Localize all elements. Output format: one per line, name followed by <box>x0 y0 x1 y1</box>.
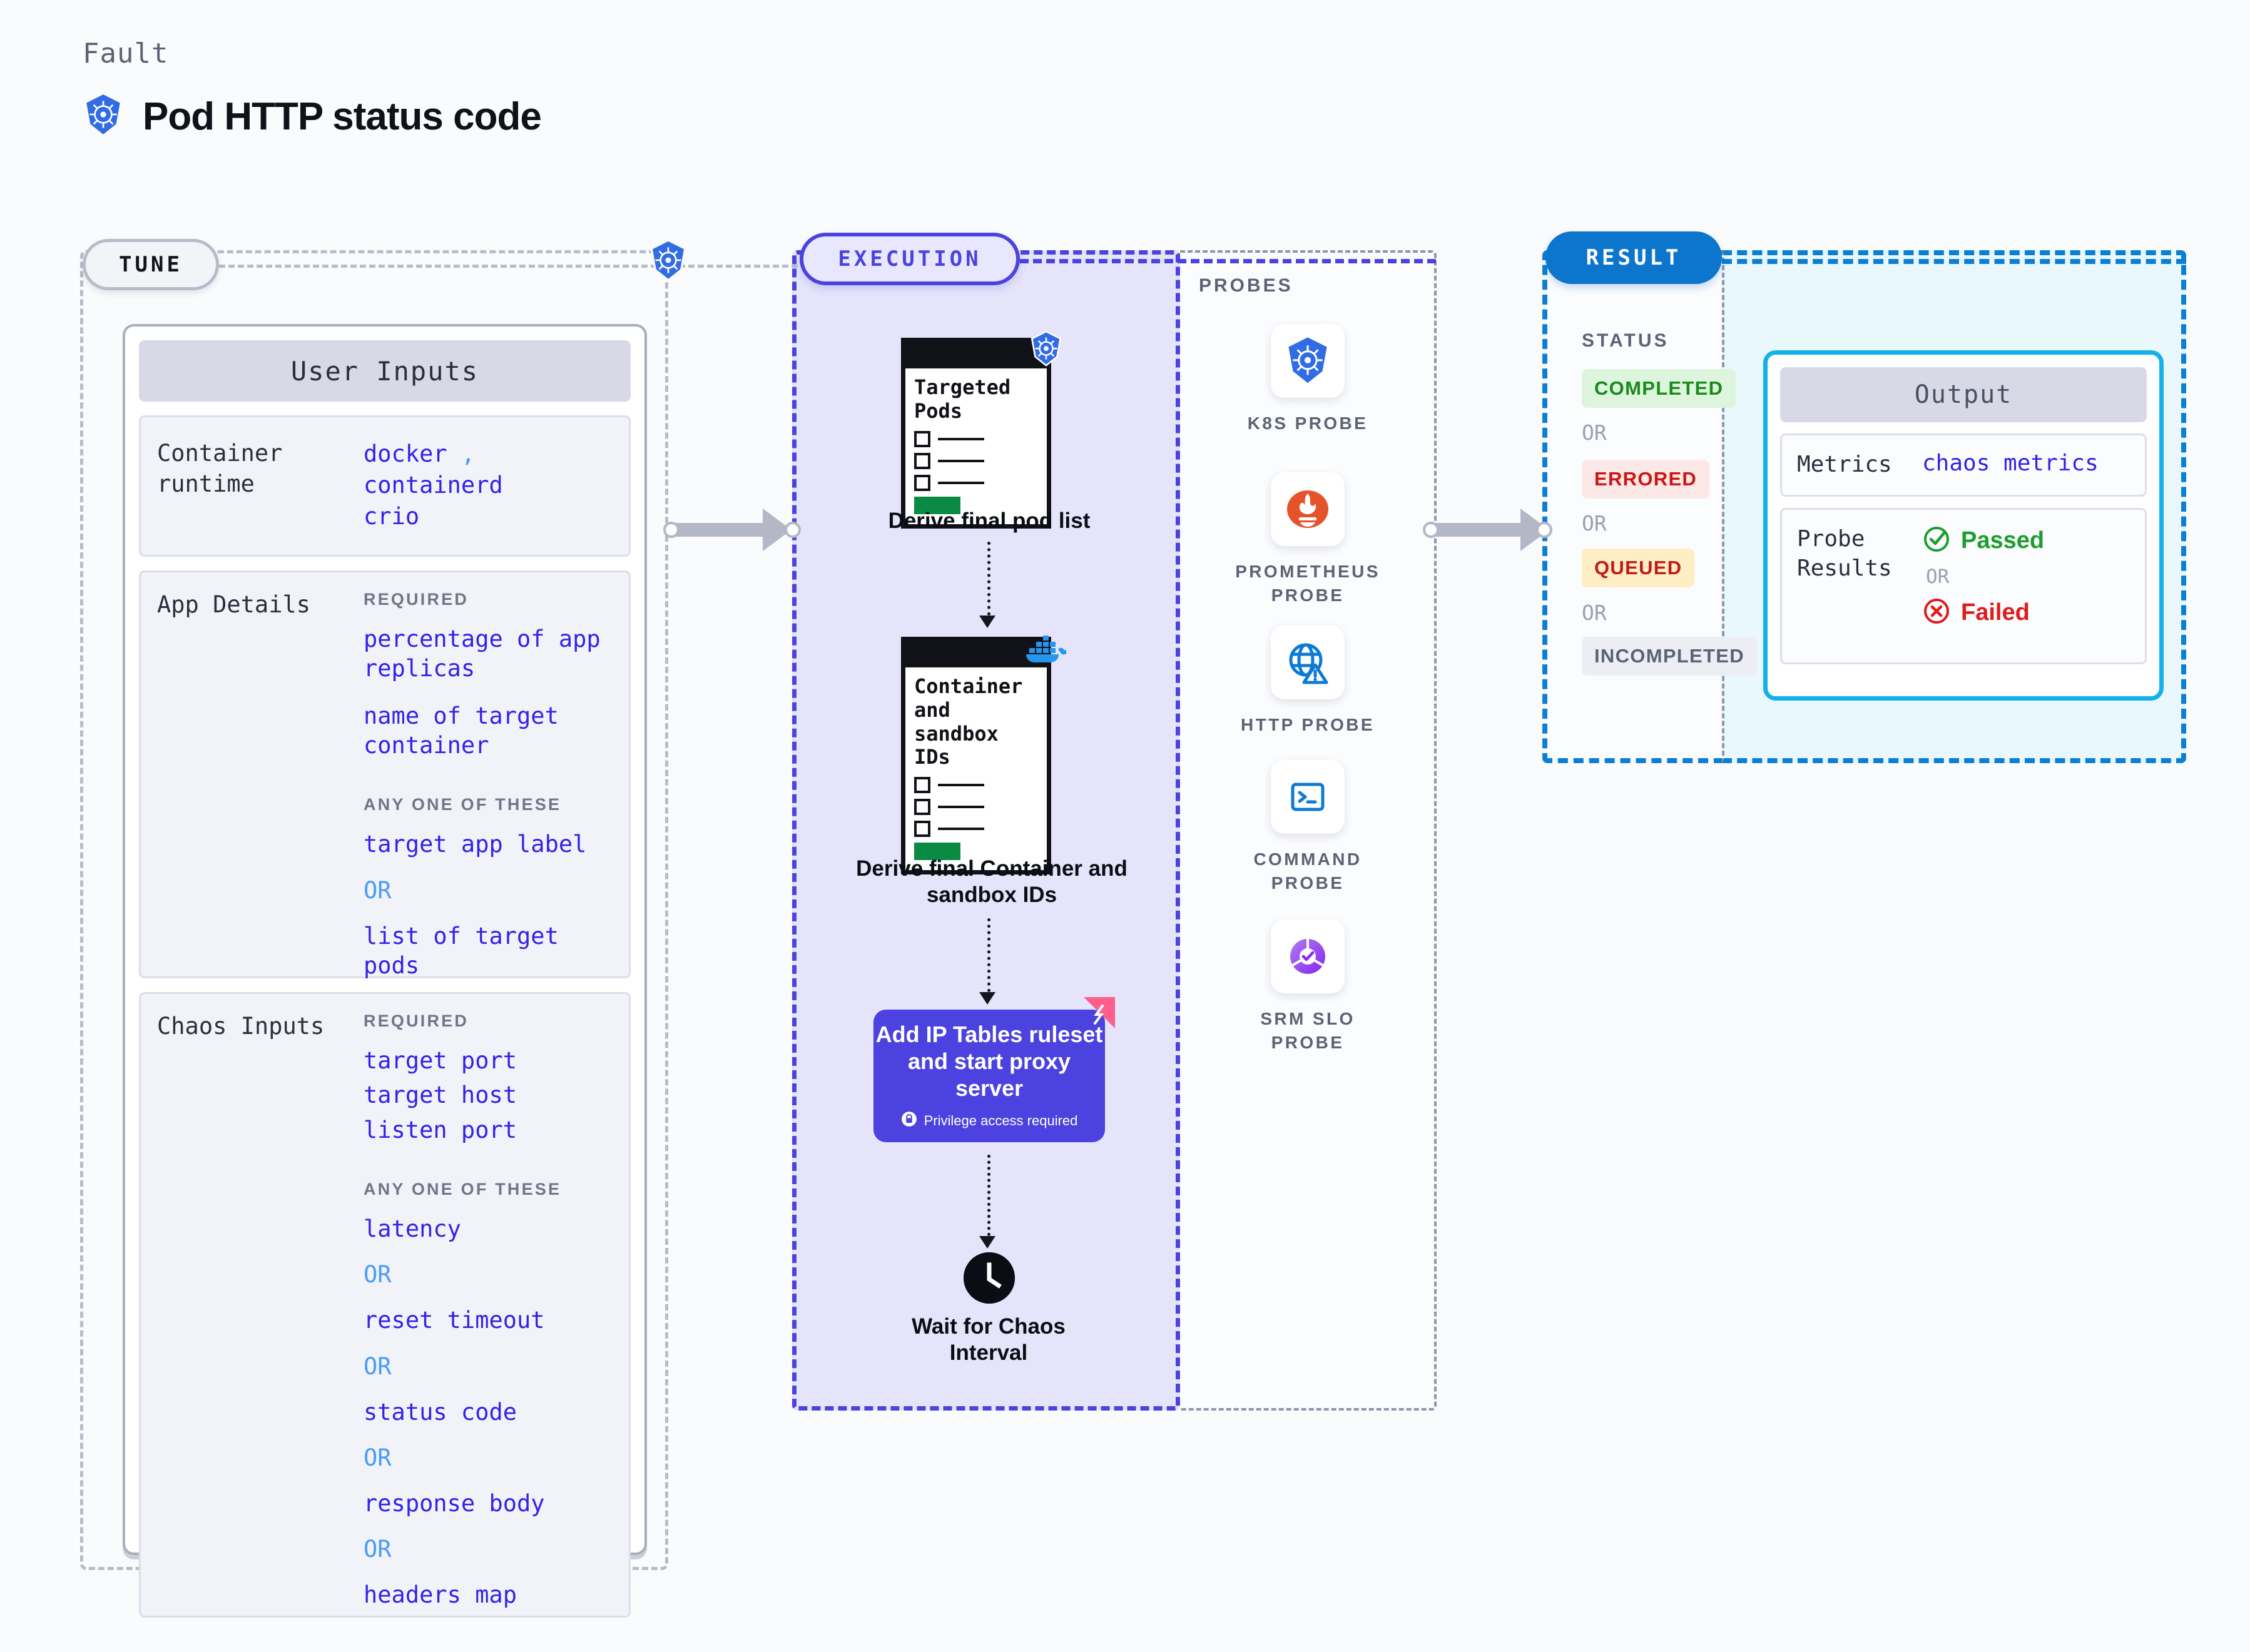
checklist-row <box>914 821 1038 837</box>
connector-dot <box>1536 522 1552 538</box>
connector-dot <box>1423 522 1439 538</box>
passed-text: Passed <box>1961 527 2044 554</box>
chaos-or-separator: OR <box>364 1444 613 1471</box>
probe-label: COMMAND PROBE <box>1223 848 1392 895</box>
chaos-anyone-caption: ANY ONE OF THESE <box>364 1180 613 1199</box>
docker-icon <box>1025 633 1066 666</box>
card-top-bar <box>905 342 1047 368</box>
chaos-anyone-item: reset timeout <box>364 1305 613 1335</box>
result-leader-line <box>1722 259 2186 264</box>
checklist-row <box>914 777 1038 793</box>
execution-badge[interactable]: EXECUTION <box>800 233 1020 285</box>
kubernetes-icon <box>1029 330 1064 371</box>
user-inputs-title: User Inputs <box>139 340 631 402</box>
chaos-anyone-item: status code <box>364 1397 613 1427</box>
user-inputs-card: User Inputs Container runtime docker , c… <box>123 324 647 1555</box>
probe-label: K8S PROBE <box>1223 412 1392 435</box>
tune-badge[interactable]: TUNE <box>83 239 219 290</box>
probe-http[interactable]: HTTP PROBE <box>1223 626 1392 737</box>
status-or: OR <box>1582 600 1607 625</box>
probe-label: PROMETHEUS PROBE <box>1223 560 1392 607</box>
chaos-required-item: target host <box>364 1080 613 1110</box>
status-badge-completed: COMPLETED <box>1582 369 1736 408</box>
kubernetes-icon <box>648 239 689 286</box>
output-card: Output Metrics chaos metrics Probe Resul… <box>1763 350 2164 701</box>
container-sandbox-card: Container and sandbox IDs <box>901 637 1051 874</box>
chaos-inputs-block: Chaos Inputs REQUIRED target port target… <box>139 992 631 1618</box>
app-required-item: percentage of app replicas <box>364 624 613 684</box>
container-runtime-label: Container runtime <box>157 438 364 532</box>
probe-prometheus[interactable]: PROMETHEUS PROBE <box>1223 472 1392 607</box>
probe-result-passed: Passed <box>1922 525 2044 557</box>
metrics-row: Metrics chaos metrics <box>1780 433 2147 497</box>
page-title: Pod HTTP status code <box>143 94 541 139</box>
targeted-pods-title: Targeted Pods <box>914 376 1038 423</box>
result-badge[interactable]: RESULT <box>1545 231 1722 284</box>
probe-results-row: Probe Results Passed OR <box>1780 508 2147 664</box>
output-title: Output <box>1780 367 2147 422</box>
chaos-anyone-item: latency <box>364 1214 613 1244</box>
chaos-required-item: target port <box>364 1046 613 1075</box>
add-iptables-title: Add IP Tables ruleset and start proxy se… <box>873 1021 1105 1102</box>
app-details-block: App Details REQUIRED percentage of app r… <box>139 570 631 978</box>
wait-chaos-interval-caption: Wait for Chaos Interval <box>882 1314 1095 1366</box>
chaos-anyone-item: headers map <box>364 1580 613 1609</box>
runtime-value-crio-row: crio <box>364 501 613 532</box>
x-circle-icon <box>1922 597 1951 629</box>
kubernetes-icon <box>83 93 124 140</box>
probe-k8s[interactable]: K8S PROBE <box>1223 324 1392 435</box>
clock-icon <box>964 1252 1015 1304</box>
check-circle-icon <box>1922 525 1951 557</box>
probe-result-failed: Failed <box>1922 597 2044 629</box>
result-status-panel <box>1542 250 1724 763</box>
kubernetes-icon <box>1271 324 1345 398</box>
probe-label: SRM SLO PROBE <box>1223 1007 1392 1055</box>
probes-to-result-connector <box>1432 523 1530 537</box>
flow-arrowhead <box>979 992 995 1005</box>
probes-label: PROBES <box>1199 275 1293 296</box>
checklist-row <box>914 799 1038 815</box>
probe-results-label: Probe Results <box>1797 525 1922 647</box>
checklist-row <box>914 475 1038 491</box>
execution-leader-line <box>1020 259 1436 263</box>
tune-leader-line <box>219 265 901 268</box>
app-anyone-item: target app label <box>364 829 613 859</box>
flow-connector <box>987 918 990 992</box>
app-or-separator: OR <box>364 877 613 904</box>
terminal-icon <box>1271 760 1345 834</box>
status-or: OR <box>1582 420 1607 445</box>
srm-slo-icon <box>1271 920 1345 993</box>
flow-connector <box>987 1155 990 1236</box>
chaos-or-separator: OR <box>364 1261 613 1288</box>
probe-label: HTTP PROBE <box>1223 713 1392 737</box>
probe-command[interactable]: COMMAND PROBE <box>1223 760 1392 895</box>
runtime-value-containerd: containerd <box>364 472 503 499</box>
derive-pod-list-caption: Derive final pod list <box>861 508 1117 534</box>
page-header: Fault Pod HTTP status code <box>83 38 541 140</box>
fault-kicker: Fault <box>83 38 541 69</box>
chaos-inputs-label: Chaos Inputs <box>157 1011 364 1597</box>
privilege-text: Privilege access required <box>924 1113 1078 1129</box>
chaos-or-separator: OR <box>364 1536 613 1563</box>
runtime-value-crio: crio <box>364 503 419 530</box>
flow-connector <box>987 542 990 616</box>
privilege-note: Privilege access required <box>901 1111 1078 1131</box>
failed-text: Failed <box>1961 599 2030 626</box>
connector-dot <box>785 522 801 538</box>
app-details-label: App Details <box>157 590 364 958</box>
metrics-value: chaos metrics <box>1922 450 2099 480</box>
flow-arrowhead <box>979 616 995 628</box>
flow-arrowhead <box>979 1236 995 1249</box>
container-sandbox-title: Container and sandbox IDs <box>914 675 1008 769</box>
container-runtime-block: Container runtime docker , containerd cr… <box>139 415 631 557</box>
chaos-or-separator: OR <box>364 1353 613 1380</box>
harness-icon <box>1081 997 1115 1034</box>
metrics-label: Metrics <box>1797 450 1922 480</box>
app-required-caption: REQUIRED <box>364 590 613 609</box>
connector-dot <box>663 522 680 538</box>
chaos-anyone-item: response body <box>364 1489 613 1518</box>
prometheus-icon <box>1271 472 1345 546</box>
tune-to-execution-connector <box>673 523 773 537</box>
probe-srm-slo[interactable]: SRM SLO PROBE <box>1223 920 1392 1055</box>
chaos-required-caption: REQUIRED <box>364 1011 613 1031</box>
chaos-required-item: listen port <box>364 1115 613 1145</box>
status-badge-queued: QUEUED <box>1582 549 1694 587</box>
checklist-row <box>914 453 1038 469</box>
status-label: STATUS <box>1582 330 1669 352</box>
status-badge-errored: ERRORED <box>1582 460 1709 499</box>
probe-result-or: OR <box>1926 565 2044 588</box>
http-globe-icon <box>1271 626 1345 699</box>
runtime-separator: , <box>461 440 475 467</box>
status-badge-incompleted: INCOMPLETED <box>1582 637 1757 676</box>
status-or: OR <box>1582 511 1607 535</box>
derive-container-ids-caption: Derive final Container and sandbox IDs <box>838 856 1145 908</box>
lock-icon <box>901 1111 917 1131</box>
app-required-item: name of target container <box>364 701 613 761</box>
app-anyone-caption: ANY ONE OF THESE <box>364 795 613 814</box>
app-anyone-item: list of target pods <box>364 921 613 981</box>
checklist-row <box>914 431 1038 447</box>
runtime-value-docker: docker <box>364 440 447 467</box>
container-runtime-values: docker , containerd <box>364 438 613 501</box>
add-iptables-action-node[interactable]: Add IP Tables ruleset and start proxy se… <box>873 1010 1105 1142</box>
title-row: Pod HTTP status code <box>83 93 541 140</box>
